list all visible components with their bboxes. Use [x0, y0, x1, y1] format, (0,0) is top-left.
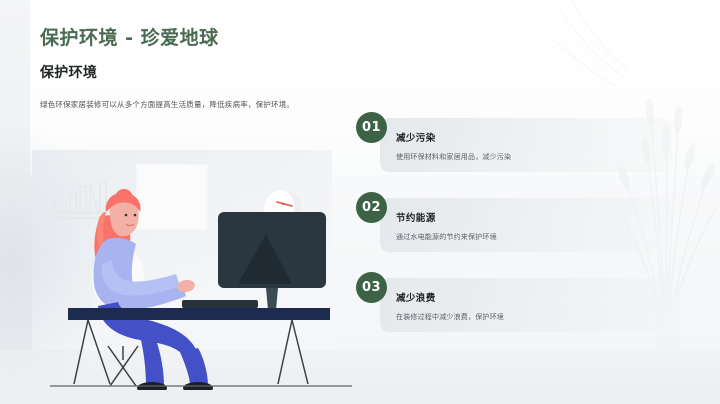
eye	[134, 214, 137, 217]
feature-item[interactable]: 01 减少污染 使用环保材料和家居用品，减少污染	[356, 112, 696, 174]
lead-paragraph: 绿色环保家居装修可以从多个方面提高生活质量，降低疾病率，保护环境。	[40, 98, 310, 112]
monitor-stand	[266, 288, 278, 310]
illustration-woman-at-desk	[40, 160, 360, 390]
wall-panel	[136, 164, 208, 230]
page-title: 保护环境 - 珍爱地球	[40, 27, 370, 51]
feature-content: 节约能源 通过水电能源的节约来保护环境	[396, 210, 497, 242]
feature-item[interactable]: 03 减少浪费 在装修过程中减少浪费，保护环境	[356, 272, 696, 334]
eye	[125, 214, 128, 217]
feature-title: 减少浪费	[396, 290, 504, 304]
feature-description: 使用环保材料和家居用品，减少污染	[396, 152, 511, 162]
monitor	[218, 212, 326, 313]
chair-legs	[108, 346, 138, 386]
feature-number-badge: 03	[356, 272, 387, 303]
feature-content: 减少浪费 在装修过程中减少浪费，保护环境	[396, 290, 504, 322]
feature-list: 01 减少污染 使用环保材料和家居用品，减少污染 02 节约能源 通过水电能源的…	[356, 112, 696, 352]
feature-title: 节约能源	[396, 210, 497, 224]
lower-leg	[180, 348, 208, 386]
feature-item[interactable]: 02 节约能源 通过水电能源的节约来保护环境	[356, 192, 696, 254]
page-subtitle: 保护环境	[40, 62, 370, 82]
feature-content: 减少污染 使用环保材料和家居用品，减少污染	[396, 130, 511, 162]
feature-description: 在装修过程中减少浪费，保护环境	[396, 312, 504, 322]
feature-number-badge: 02	[356, 192, 387, 223]
slide-canvas: 保护环境 - 珍爱地球 保护环境 绿色环保家居装修可以从多个方面提高生活质量，降…	[0, 0, 720, 404]
desk-top	[68, 308, 330, 320]
feature-title: 减少污染	[396, 130, 511, 144]
keyboard	[182, 300, 258, 308]
feature-description: 通过水电能源的节约来保护环境	[396, 232, 497, 242]
slide-header: 保护环境 - 珍爱地球 保护环境 绿色环保家居装修可以从多个方面提高生活质量，降…	[40, 27, 370, 112]
feature-number-badge: 01	[356, 112, 387, 143]
